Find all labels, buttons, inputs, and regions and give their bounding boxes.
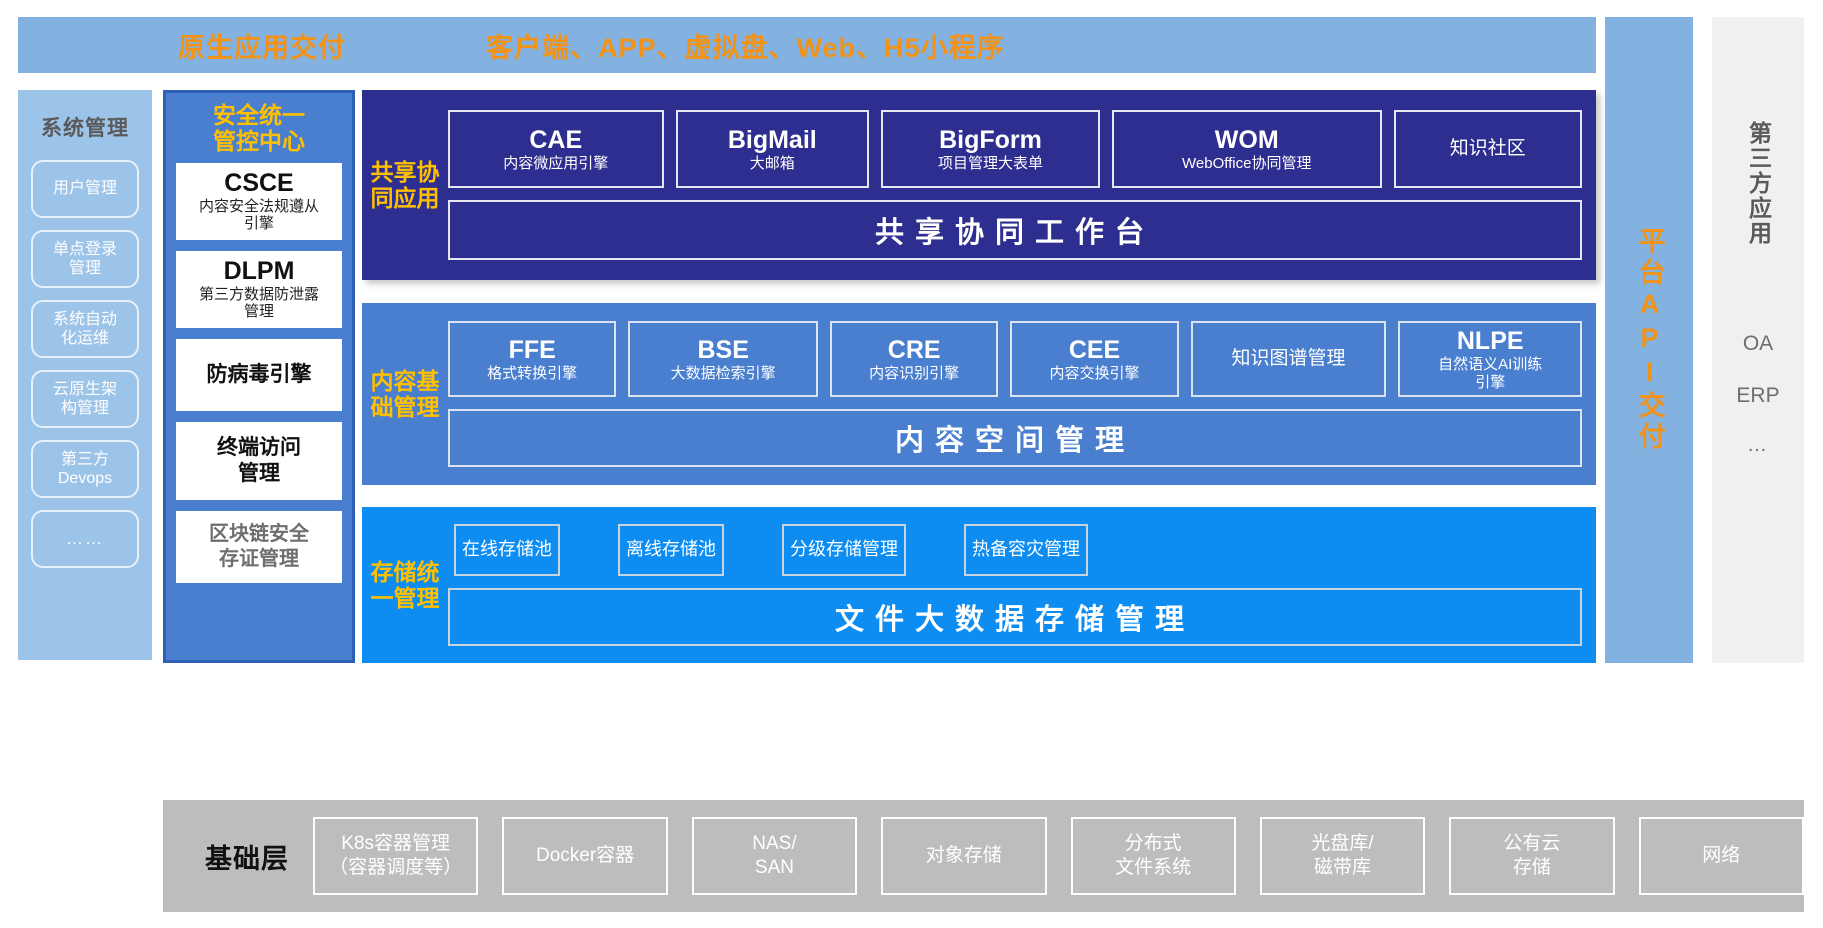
hot-backup-label: 热备容灾管理 <box>972 539 1080 561</box>
infra-chip-distributed-fs[interactable]: 分布式文件系统 <box>1071 817 1236 895</box>
cee-sub: 内容交换引擎 <box>1050 365 1140 382</box>
terminal-access-label: 终端访问管理 <box>217 435 301 485</box>
cae-code: CAE <box>529 126 582 154</box>
ffe-sub: 格式转换引擎 <box>487 365 577 382</box>
infra-chip-nas-san[interactable]: NAS/SAN <box>692 817 857 895</box>
file-bigdata-storage-bar[interactable]: 文件大数据存储管理 <box>448 588 1582 646</box>
content-foundation-label: 内容基础管理 <box>362 303 448 485</box>
banner-right-label: 客户端、APP、虚拟盘、Web、H5小程序 <box>486 26 1005 65</box>
infra-chip-docker[interactable]: Docker容器 <box>502 817 667 895</box>
security-center-title: 安全统一管控中心 <box>213 103 305 155</box>
third-party-title: 第三方应用 <box>1742 121 1773 246</box>
system-management-title: 系统管理 <box>41 112 129 142</box>
security-item-dlpm[interactable]: DLPM 第三方数据防泄露管理 <box>176 251 342 328</box>
storage-chip-tiered[interactable]: 分级存储管理 <box>782 524 906 576</box>
shared-collaboration-band: 共享协同应用 CAE 内容微应用引擎 BigMail 大邮箱 BigForm 项… <box>362 90 1596 280</box>
shared-collaboration-label: 共享协同应用 <box>362 90 448 280</box>
bse-sub: 大数据检索引擎 <box>671 365 776 382</box>
engine-chip-knowledge-graph[interactable]: 知识图谱管理 <box>1191 321 1387 397</box>
engine-chip-bse[interactable]: BSE 大数据检索引擎 <box>628 321 818 397</box>
shared-collaboration-workbench-bar[interactable]: 共享协同工作台 <box>448 200 1582 260</box>
nlpe-code: NLPE <box>1457 327 1524 355</box>
storage-management-band: 存储统一管理 在线存储池 离线存储池 分级存储管理 热备容灾管理 文件大数据存储… <box>362 507 1596 663</box>
engine-chip-ffe[interactable]: FFE 格式转换引擎 <box>448 321 616 397</box>
knowledge-graph-label: 知识图谱管理 <box>1232 348 1346 371</box>
sidebar-item-user-management[interactable]: 用户管理 <box>31 160 139 218</box>
tiered-storage-label: 分级存储管理 <box>790 539 898 561</box>
dlpm-sub: 第三方数据防泄露管理 <box>199 286 319 321</box>
architecture-diagram: 原生应用交付 客户端、APP、虚拟盘、Web、H5小程序 系统管理 用户管理 单… <box>0 0 1823 928</box>
sidebar-item-more[interactable]: …… <box>31 510 139 568</box>
bigform-code: BigForm <box>939 126 1042 154</box>
app-chip-bigform[interactable]: BigForm 项目管理大表单 <box>881 110 1100 188</box>
infra-chip-object-storage[interactable]: 对象存储 <box>881 817 1046 895</box>
infrastructure-layer: 基础层 K8s容器管理（容器调度等） Docker容器 NAS/SAN 对象存储… <box>163 800 1804 912</box>
wom-sub: WebOffice协同管理 <box>1182 155 1311 172</box>
top-delivery-banner: 原生应用交付 客户端、APP、虚拟盘、Web、H5小程序 <box>18 17 1596 73</box>
blockchain-label: 区块链安全存证管理 <box>209 522 309 572</box>
infra-chip-optical-tape[interactable]: 光盘库/磁带库 <box>1260 817 1425 895</box>
cee-code: CEE <box>1069 336 1120 364</box>
banner-left-label: 原生应用交付 <box>178 26 346 65</box>
storage-management-label: 存储统一管理 <box>362 507 448 663</box>
bigmail-sub: 大邮箱 <box>750 155 795 172</box>
app-chip-knowledge-community[interactable]: 知识社区 <box>1394 110 1582 188</box>
antivirus-label: 防病毒引擎 <box>207 362 312 387</box>
online-pool-label: 在线存储池 <box>462 539 552 561</box>
engine-chip-nlpe[interactable]: NLPE 自然语义AI训练引擎 <box>1398 321 1582 397</box>
cre-code: CRE <box>888 336 941 364</box>
security-item-antivirus-engine[interactable]: 防病毒引擎 <box>176 339 342 411</box>
security-item-blockchain-evidence[interactable]: 区块链安全存证管理 <box>176 511 342 583</box>
storage-chip-offline-pool[interactable]: 离线存储池 <box>618 524 724 576</box>
security-control-center-column: 安全统一管控中心 CSCE 内容安全法规遵从引擎 DLPM 第三方数据防泄露管理… <box>163 90 355 663</box>
storage-chip-row: 在线存储池 离线存储池 分级存储管理 热备容灾管理 <box>448 524 1582 576</box>
shared-collaboration-chip-row: CAE 内容微应用引擎 BigMail 大邮箱 BigForm 项目管理大表单 … <box>448 110 1582 188</box>
infra-chip-k8s[interactable]: K8s容器管理（容器调度等） <box>313 817 478 895</box>
sidebar-item-sso-management[interactable]: 单点登录管理 <box>31 230 139 288</box>
dlpm-code: DLPM <box>224 258 295 286</box>
platform-api-label: 平台API交付 <box>1629 227 1668 453</box>
third-party-item-more[interactable]: … <box>1747 434 1769 457</box>
bigmail-code: BigMail <box>728 126 817 154</box>
infrastructure-chip-row: K8s容器管理（容器调度等） Docker容器 NAS/SAN 对象存储 分布式… <box>313 817 1804 895</box>
offline-pool-label: 离线存储池 <box>626 539 716 561</box>
third-party-app-column: 第三方应用 OA ERP … <box>1712 17 1804 663</box>
app-chip-cae[interactable]: CAE 内容微应用引擎 <box>448 110 664 188</box>
wom-code: WOM <box>1215 126 1279 154</box>
content-foundation-band: 内容基础管理 FFE 格式转换引擎 BSE 大数据检索引擎 CRE 内容识别引擎… <box>362 303 1596 485</box>
sidebar-item-cloud-native-arch[interactable]: 云原生架构管理 <box>31 370 139 428</box>
nlpe-sub: 自然语义AI训练引擎 <box>1438 356 1542 391</box>
infra-chip-network[interactable]: 网络 <box>1639 817 1804 895</box>
ffe-code: FFE <box>509 336 556 364</box>
knowledge-community-label: 知识社区 <box>1450 138 1526 161</box>
platform-api-column: 平台API交付 <box>1605 17 1693 663</box>
storage-chip-hot-backup[interactable]: 热备容灾管理 <box>964 524 1088 576</box>
csce-code: CSCE <box>224 170 293 198</box>
app-chip-bigmail[interactable]: BigMail 大邮箱 <box>676 110 870 188</box>
app-chip-wom[interactable]: WOM WebOffice协同管理 <box>1112 110 1382 188</box>
content-foundation-chip-row: FFE 格式转换引擎 BSE 大数据检索引擎 CRE 内容识别引擎 CEE 内容… <box>448 321 1582 397</box>
csce-sub: 内容安全法规遵从引擎 <box>199 198 319 233</box>
bse-code: BSE <box>697 336 748 364</box>
third-party-item-oa[interactable]: OA <box>1743 332 1773 356</box>
cae-sub: 内容微应用引擎 <box>503 155 608 172</box>
sidebar-item-auto-ops[interactable]: 系统自动化运维 <box>31 300 139 358</box>
engine-chip-cre[interactable]: CRE 内容识别引擎 <box>830 321 998 397</box>
security-item-terminal-access[interactable]: 终端访问管理 <box>176 422 342 500</box>
sidebar-item-third-party-devops[interactable]: 第三方Devops <box>31 440 139 498</box>
storage-chip-online-pool[interactable]: 在线存储池 <box>454 524 560 576</box>
infrastructure-title: 基础层 <box>205 837 289 876</box>
infra-chip-public-cloud[interactable]: 公有云存储 <box>1449 817 1614 895</box>
engine-chip-cee[interactable]: CEE 内容交换引擎 <box>1010 321 1178 397</box>
bigform-sub: 项目管理大表单 <box>938 155 1043 172</box>
third-party-item-erp[interactable]: ERP <box>1736 384 1779 408</box>
security-item-csce[interactable]: CSCE 内容安全法规遵从引擎 <box>176 163 342 240</box>
system-management-column: 系统管理 用户管理 单点登录管理 系统自动化运维 云原生架构管理 第三方Devo… <box>18 90 152 660</box>
cre-sub: 内容识别引擎 <box>869 365 959 382</box>
content-space-management-bar[interactable]: 内容空间管理 <box>448 409 1582 467</box>
